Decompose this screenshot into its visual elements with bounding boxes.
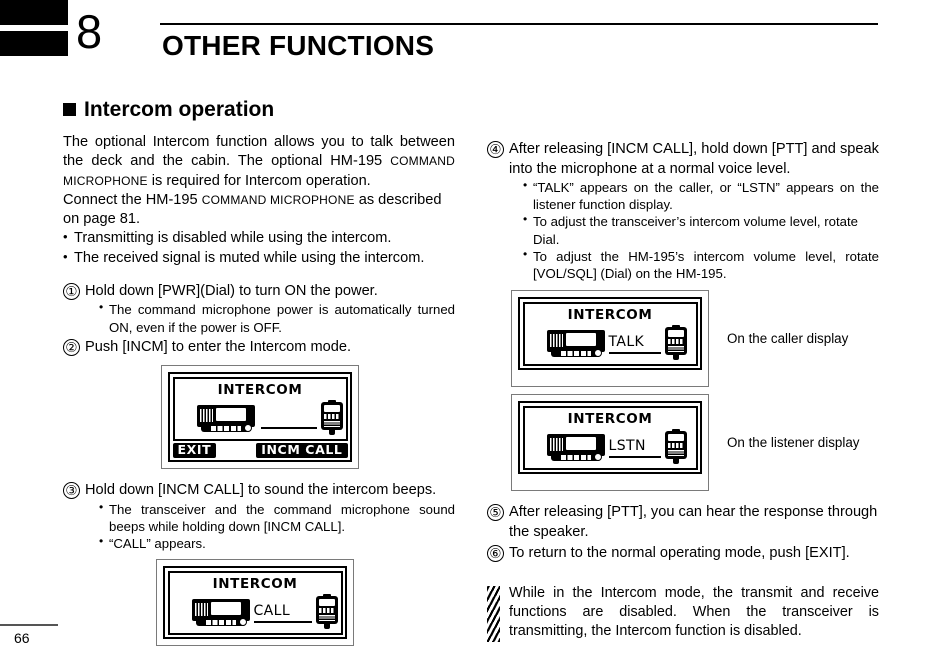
lcd-screen: INTERCOM TALK	[523, 302, 698, 366]
step-6: ⑥ To return to the normal operating mode…	[487, 544, 879, 564]
list-item: To adjust the HM-195’s intercom volume l…	[523, 248, 879, 282]
page-number: 66	[14, 630, 30, 646]
lcd-graphic: LSTN	[525, 428, 696, 466]
figure-intercom-main-display: INTERCOM	[161, 365, 359, 469]
lcd-softkey-row: EXIT INCM CALL	[173, 443, 348, 458]
step-4-number: ④	[487, 141, 504, 158]
step-1-text: Hold down [PWR](Dial) to turn ON the pow…	[85, 283, 378, 299]
connection-line	[609, 352, 661, 354]
command-microphone-icon	[321, 400, 343, 436]
square-bullet-icon	[63, 103, 76, 116]
figure-intercom-lstn-display: INTERCOM LSTN	[511, 394, 709, 491]
section-heading-label: Intercom operation	[84, 98, 274, 121]
transceiver-icon	[547, 434, 605, 462]
step-5: ⑤ After releasing [PTT], you can hear th…	[487, 503, 879, 542]
list-item: To adjust the transceiver’s intercom vol…	[523, 213, 879, 247]
lcd-status-word: CALL	[254, 603, 291, 619]
command-microphone-icon	[316, 594, 338, 630]
lcd-bezel: INTERCOM	[168, 372, 352, 462]
step-6-number: ⑥	[487, 545, 504, 562]
lcd-bezel: INTERCOM CALL	[163, 566, 347, 639]
step-3: ③ Hold down [INCM CALL] to sound the int…	[63, 481, 455, 552]
intro-2-smallcaps: COMMAND MICROPHONE	[202, 193, 355, 207]
chapter-marker-bars	[0, 0, 68, 56]
list-item: “TALK” appears on the caller, or “LSTN” …	[523, 179, 879, 213]
connection-line	[254, 621, 312, 623]
softkey-exit[interactable]: EXIT	[173, 443, 217, 458]
softkey-incm-call[interactable]: INCM CALL	[256, 443, 347, 458]
step-4: ④ After releasing [INCM CALL], hold down…	[487, 140, 879, 282]
figure-caption-caller: On the caller display	[727, 330, 848, 347]
intro-2-part-a: Connect the HM-195	[63, 192, 202, 208]
note-text: While in the Intercom mode, the transmit…	[509, 585, 879, 639]
chapter-bar-top	[0, 0, 68, 25]
step-3-substeps: The transceiver and the command micropho…	[85, 501, 455, 552]
command-microphone-icon	[665, 325, 687, 361]
lcd-screen: INTERCOM CALL	[168, 571, 343, 635]
step-2-text: Push [INCM] to enter the Intercom mode.	[85, 339, 351, 355]
left-column: Intercom operation The optional Intercom…	[63, 98, 455, 646]
figure-caption-listener: On the listener display	[727, 434, 860, 451]
note-block: While in the Intercom mode, the transmit…	[487, 584, 879, 641]
lcd-bezel: INTERCOM LSTN	[518, 401, 702, 474]
chapter-title: OTHER FUNCTIONS	[162, 30, 434, 62]
lcd-graphic	[175, 399, 346, 437]
lcd-screen: INTERCOM	[173, 377, 348, 441]
lcd-status-word: TALK	[609, 334, 645, 350]
lcd-bezel: INTERCOM TALK	[518, 297, 702, 370]
intro-paragraph-2: Connect the HM-195 COMMAND MICROPHONE as…	[63, 191, 455, 230]
step-5-text: After releasing [PTT], you can hear the …	[509, 504, 877, 540]
chapter-bar-bottom	[0, 31, 68, 56]
figure-intercom-talk-display: INTERCOM TALK	[511, 290, 709, 387]
connection-line	[609, 456, 661, 458]
transceiver-icon	[192, 599, 250, 627]
connection-line	[261, 427, 317, 429]
intro-1-part-c: is required for Intercom operation.	[148, 173, 371, 189]
lcd-title: INTERCOM	[525, 413, 696, 427]
chapter-number: 8	[76, 8, 101, 55]
header-divider-rule	[160, 23, 878, 25]
step-6-text: To return to the normal operating mode, …	[509, 545, 850, 561]
lcd-graphic: TALK	[525, 324, 696, 362]
lcd-screen: INTERCOM LSTN	[523, 406, 698, 470]
step-4-substeps: “TALK” appears on the caller, or “LSTN” …	[509, 179, 879, 282]
step-2: ② Push [INCM] to enter the Intercom mode…	[63, 338, 455, 358]
section-heading: Intercom operation	[63, 98, 455, 121]
list-item: Transmitting is disabled while using the…	[63, 229, 455, 248]
list-item: The transceiver and the command micropho…	[99, 501, 455, 535]
lcd-title: INTERCOM	[170, 578, 341, 592]
step-5-number: ⑤	[487, 504, 504, 521]
command-microphone-icon	[665, 429, 687, 465]
step-1: ① Hold down [PWR](Dial) to turn ON the p…	[63, 282, 455, 336]
intro-paragraph-1: The optional Intercom function allows yo…	[63, 133, 455, 191]
footer-divider-rule	[0, 624, 58, 626]
step-1-substeps: The command microphone power is automati…	[85, 301, 455, 335]
list-item: The command microphone power is automati…	[99, 301, 455, 335]
step-1-number: ①	[63, 283, 80, 300]
lcd-graphic: CALL	[170, 593, 341, 631]
transceiver-icon	[197, 405, 255, 433]
step-3-text: Hold down [INCM CALL] to sound the inter…	[85, 482, 436, 498]
lcd-title: INTERCOM	[175, 384, 346, 398]
step-4-text: After releasing [INCM CALL], hold down […	[509, 141, 879, 177]
step-2-number: ②	[63, 339, 80, 356]
hatched-bar-icon	[487, 586, 500, 642]
list-item: The received signal is muted while using…	[63, 249, 455, 268]
lcd-status-word: LSTN	[609, 438, 646, 454]
transceiver-icon	[547, 330, 605, 358]
step-3-number: ③	[63, 482, 80, 499]
right-column: ④ After releasing [INCM CALL], hold down…	[487, 138, 879, 641]
list-item: “CALL” appears.	[99, 535, 455, 552]
lcd-title: INTERCOM	[525, 309, 696, 323]
intro-bullet-list: Transmitting is disabled while using the…	[63, 229, 455, 268]
figure-intercom-call-display: INTERCOM CALL	[156, 559, 354, 646]
